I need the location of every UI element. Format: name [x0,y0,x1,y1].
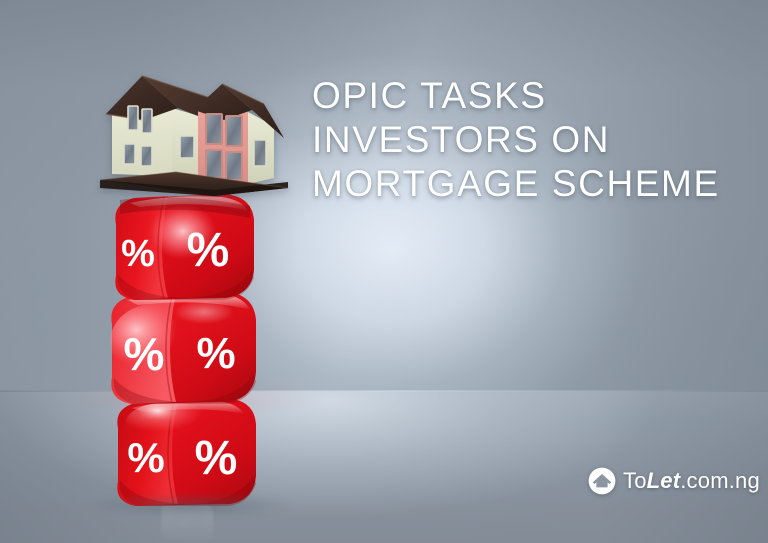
die-symbol: % [127,434,164,481]
headline-line-1: OPIC TASKS [312,74,732,118]
die-top: % % [108,192,258,304]
die-symbol: % [195,432,238,485]
headline-line-2: INVESTORS ON [312,118,732,162]
logo-wordmark: ToLet.com.ng [623,468,760,494]
die-symbol: % [187,224,230,277]
headline: OPIC TASKS INVESTORS ON MORTGAGE SCHEME [312,74,732,206]
logo-text-tld: .com.ng [680,468,760,493]
logo-text-let: Let [647,468,681,493]
die-middle: % % [106,290,258,406]
miniature-house-model [98,64,290,196]
banner-stage: % % [0,0,768,543]
die-symbol: % [196,329,235,378]
house-in-circle-icon [588,467,616,495]
headline-line-3: MORTGAGE SCHEME [312,162,732,206]
logo-text-to: To [623,468,647,493]
stack-contact-shadow [86,492,294,518]
tolet-logo[interactable]: ToLet.com.ng [588,467,760,495]
die-symbol: % [121,233,155,275]
die-symbol: % [124,328,165,380]
